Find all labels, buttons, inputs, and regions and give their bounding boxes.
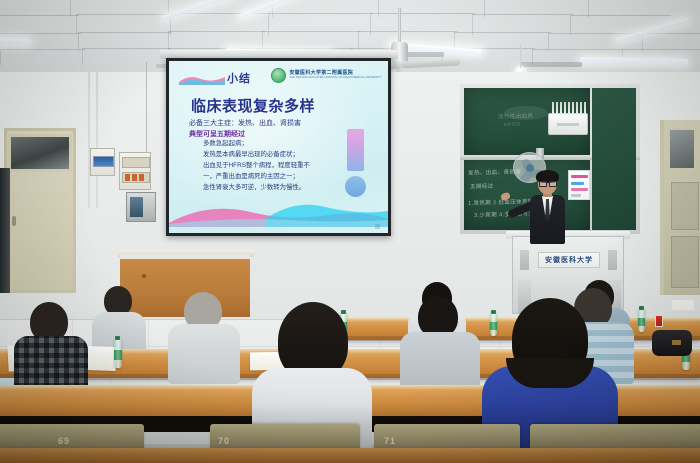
- blackboard-chalk-text: HFRS: [504, 122, 521, 128]
- door-gap: [0, 168, 10, 293]
- pendant-cord: [520, 44, 521, 68]
- slide-section-label: 小结: [227, 70, 251, 86]
- podium-side-panel: [608, 250, 617, 270]
- hospital-logo: 安徽医科大学第二附属医院 THE SECOND AFFILIATED HOSPI…: [271, 68, 382, 83]
- slide-wave-bottom-decoration: [169, 193, 388, 227]
- slide-heading: 临床表现复杂多样: [191, 95, 315, 116]
- slide-bullet: 发热是本病最早出现的必备症状；: [203, 152, 363, 158]
- hospital-logo-name-en: THE SECOND AFFILIATED HOSPITAL OF ANHUI …: [289, 77, 382, 80]
- hospital-logo-icon: [271, 68, 286, 83]
- slide-bullet: 多数急起起病；: [203, 141, 363, 147]
- exclamation-mark-icon: [347, 129, 364, 171]
- cabinet-knob: [142, 274, 146, 278]
- wall-wire: [146, 62, 147, 152]
- tissue-paper: [672, 300, 694, 310]
- slide-line-1: 必备三大主症：发热、出血、肾损害: [189, 118, 301, 128]
- audience-person: [14, 302, 88, 392]
- lecture-hall-photo: 小结 安徽医科大学第二附属医院 THE SECOND AFFILIATED HO…: [0, 0, 700, 463]
- door-window: [8, 134, 72, 172]
- air-conditioner-unit: [548, 113, 588, 135]
- wall-conduit: [88, 60, 90, 208]
- blackboard-right-panel: [592, 88, 636, 230]
- blackboard-chalk-text: 流行性出血热: [498, 112, 534, 121]
- presenter-glasses-icon: [539, 181, 556, 185]
- bench-number: 71: [384, 436, 396, 446]
- door-handle[interactable]: [12, 216, 16, 226]
- presentation-slide: 小结 安徽医科大学第二附属医院 THE SECOND AFFILIATED HO…: [169, 61, 388, 233]
- slide-bullet-list: 多数急起起病； 发热是本病最早出现的必备症状； 出血见于HFRS整个病程，程度轻…: [203, 141, 363, 196]
- wall-conduit: [96, 60, 98, 208]
- slide-bullet: 一，严重出血是病死的主因之一；: [203, 174, 363, 180]
- slide-wave-top-decoration: [179, 73, 225, 85]
- meter-face: [130, 197, 143, 217]
- side-door-window: [668, 128, 696, 170]
- slide-bullet: 出血见于HFRS整个病程，程度轻重不: [203, 163, 363, 169]
- podium-university-text: 安徽医科大学: [545, 255, 593, 265]
- projection-screen: 小结 安徽医科大学第二附属医院 THE SECOND AFFILIATED HO…: [166, 58, 391, 236]
- presenter: [520, 172, 576, 244]
- backpack-logo: [672, 340, 681, 345]
- audience-person-gray-hair: [168, 292, 240, 378]
- person-torso: [168, 324, 240, 384]
- breaker-row[interactable]: [122, 172, 150, 183]
- slide-bullet: 急性肾衰大多可逆，少数转为慢性。: [203, 185, 363, 191]
- ceiling-fan-rod: [398, 8, 401, 44]
- ceiling-light-tube: [0, 37, 30, 44]
- podium-university-sign: 安徽医科大学: [538, 252, 600, 268]
- breaker-row[interactable]: [122, 157, 150, 168]
- control-panel-display: [93, 156, 114, 167]
- podium-side-panel: [520, 250, 529, 270]
- slide-corner-marker: [375, 224, 380, 229]
- bench-number: 70: [218, 436, 230, 446]
- bench-number: 69: [58, 436, 70, 446]
- desk-row-closest: [0, 448, 700, 463]
- slide-line-2: 典型可呈五期经过: [189, 129, 245, 139]
- audience-person: [400, 296, 480, 388]
- blackboard-chalk-text: 五期经过: [470, 182, 494, 191]
- small-red-marker: [655, 315, 663, 327]
